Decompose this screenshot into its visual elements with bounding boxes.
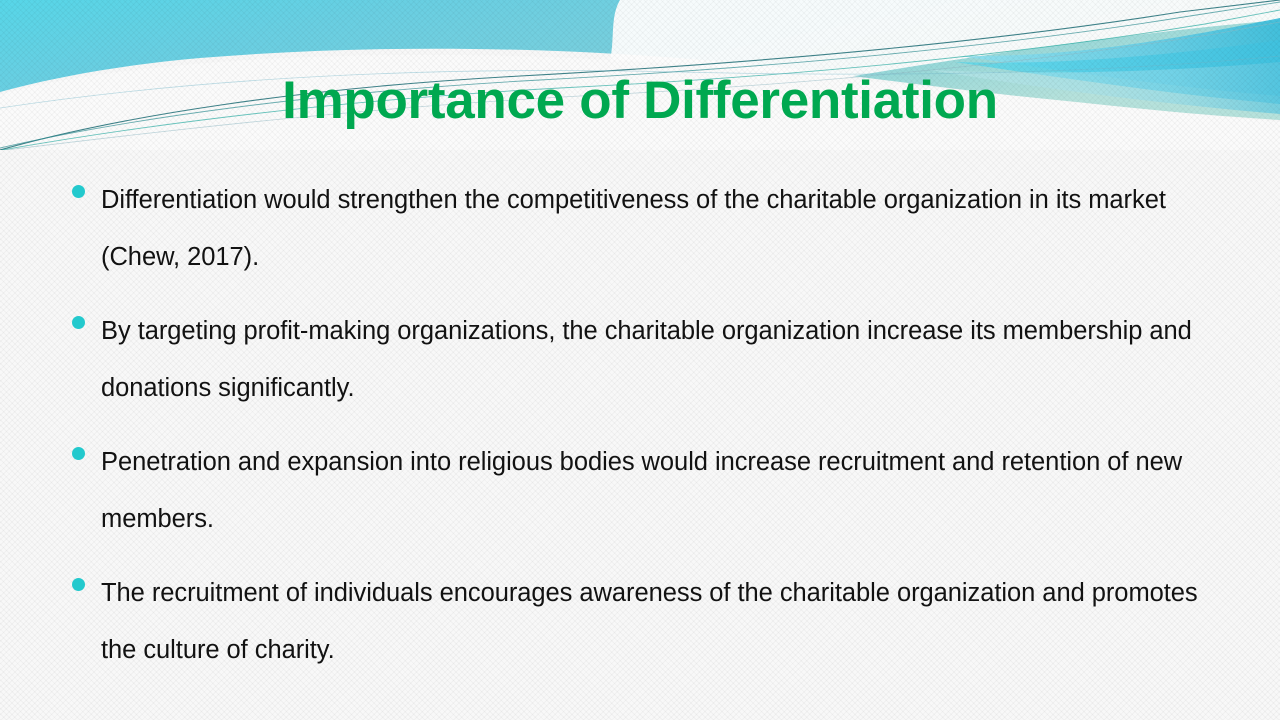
- presentation-slide: Importance of Differentiation Differenti…: [0, 0, 1280, 720]
- slide-title: Importance of Differentiation: [0, 72, 1280, 130]
- list-item: Differentiation would strengthen the com…: [72, 172, 1232, 286]
- bullet-dot-icon: [72, 185, 85, 198]
- list-item: Penetration and expansion into religious…: [72, 434, 1232, 548]
- bullet-text: Differentiation would strengthen the com…: [101, 172, 1232, 286]
- bullet-text: By targeting profit-making organizations…: [101, 303, 1232, 417]
- bullet-dot-icon: [72, 316, 85, 329]
- bullet-text: Penetration and expansion into religious…: [101, 434, 1232, 548]
- list-item: The recruitment of individuals encourage…: [72, 565, 1232, 679]
- bullet-text: The recruitment of individuals encourage…: [101, 565, 1232, 679]
- bullet-list: Differentiation would strengthen the com…: [72, 172, 1232, 696]
- list-item: By targeting profit-making organizations…: [72, 303, 1232, 417]
- bullet-dot-icon: [72, 578, 85, 591]
- bullet-dot-icon: [72, 447, 85, 460]
